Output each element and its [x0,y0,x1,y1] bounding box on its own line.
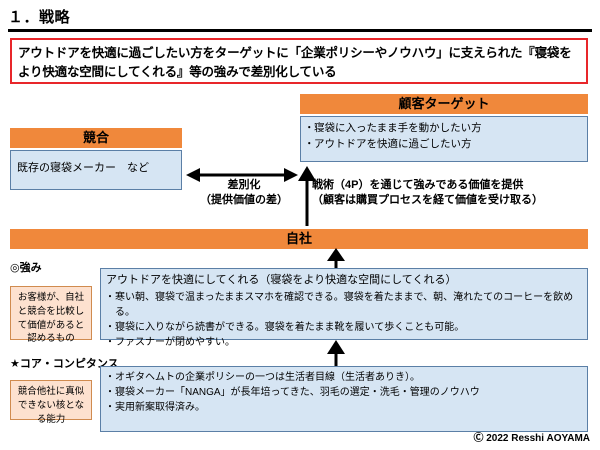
slide-canvas: １．戦略 アウトドアを快適に過ごしたい方をターゲットに「企業ポリシーやノウハウ」… [0,0,600,450]
list-item: 寝袋に入ったまま手を動かしたい方 [305,120,583,136]
competitor-header: 競合 [10,128,182,148]
strength-box: アウトドアを快適にしてくれる（寝袋をより快適な空間にしてくれる） 寒い朝、寝袋で… [100,268,588,340]
list-item: 寝袋メーカー「NANGA」が長年培ってきた、羽毛の選定・洗毛・管理のノウハウ [106,385,582,400]
list-item: 寝袋に入りながら読書ができる。寝袋を着たまま靴を履いて歩くことも可能。 [106,320,582,335]
strength-lead: アウトドアを快適にしてくれる（寝袋をより快適な空間にしてくれる） [106,272,582,289]
strength-side-note: お客様が、自社と競合を比較して価値があると認めるもの [10,286,92,340]
tactics-label-line2: （顧客は購買プロセスを経て価値を受け取る） [312,194,543,206]
strength-marker: ◎強み [10,259,42,275]
own-company-header: 自社 [10,229,588,249]
core-competence-box: オギタヘムトの企業ポリシーの一つは生活者目線（生活者ありき）。 寝袋メーカー「N… [100,366,588,432]
competitor-box: 既存の寝袋メーカー など [10,150,182,190]
list-item: オギタヘムトの企業ポリシーの一つは生活者目線（生活者ありき）。 [106,370,582,385]
copyright-text: Ⓒ 2022 Resshi AOYAMA [473,429,590,444]
title-divider [8,29,592,32]
list-item: 寒い朝、寝袋で温まったままスマホを確認できる。寝袋を着たままで、朝、淹れたてのコ… [106,290,582,320]
summary-box: アウトドアを快適に過ごしたい方をターゲットに「企業ポリシーやノウハウ」に支えられ… [10,38,588,84]
differentiation-label-line2: （提供価値の差） [200,194,288,206]
list-item: 実用新案取得済み。 [106,400,582,415]
tactics-label: 戦術（4P）を通じて強みである価値を提供 （顧客は購買プロセスを経て価値を受け取… [312,178,588,208]
strength-to-own-arrow-icon [325,248,347,270]
core-competence-side-note: 競合他社に真似できない核となる能力 [10,380,92,420]
core-to-strength-arrow-icon [325,340,347,368]
page-title: １．戦略 [8,6,70,27]
tactics-label-line1: 戦術（4P）を通じて強みである価値を提供 [312,179,523,191]
list-item: アウトドアを快適に過ごしたい方 [305,136,583,152]
customer-target-box: 寝袋に入ったまま手を動かしたい方 アウトドアを快適に過ごしたい方 [300,116,588,162]
customer-target-list: 寝袋に入ったまま手を動かしたい方 アウトドアを快適に過ごしたい方 [305,120,583,153]
differentiation-label: 差別化 （提供価値の差） [190,178,298,208]
differentiation-label-line1: 差別化 [228,179,261,191]
core-competence-list: オギタヘムトの企業ポリシーの一つは生活者目線（生活者ありき）。 寝袋メーカー「N… [106,370,582,415]
customer-target-header: 顧客ターゲット [300,94,588,114]
